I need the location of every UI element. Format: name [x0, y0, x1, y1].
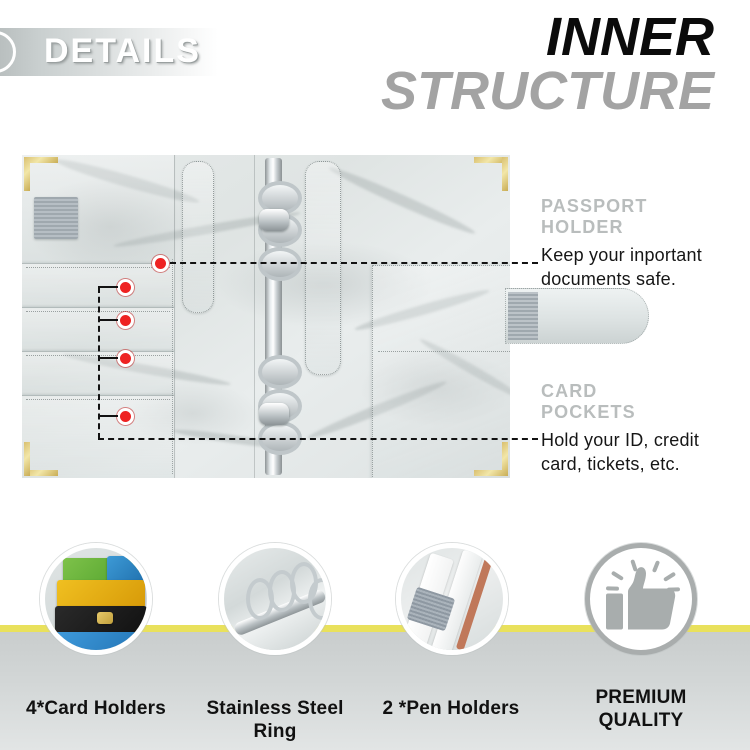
feature-label-pen-holders: 2 *Pen Holders	[366, 697, 536, 720]
gold-corner-icon	[24, 157, 58, 191]
callout-desc: Keep your inportant documents safe.	[541, 244, 741, 290]
callout-tick-1	[98, 286, 118, 288]
strap-elastic-band	[508, 292, 538, 340]
page-title: INNER STRUCTURE	[381, 12, 714, 118]
callout-line-card-pockets	[98, 438, 538, 440]
callout-desc-line2: card, tickets, etc.	[541, 454, 680, 474]
feature-image-pen-holders	[396, 543, 508, 655]
callout-title-line1: PASSPORT	[541, 196, 647, 216]
thumbs-up-icon	[598, 556, 684, 643]
feature-label-line2: QUALITY	[599, 710, 684, 731]
callout-desc-line1: Hold your ID, credit	[541, 430, 699, 450]
badge-circle-icon	[0, 31, 16, 73]
details-badge-label: DETAILS	[44, 32, 201, 71]
callout-dot-card-3	[117, 350, 134, 367]
gold-corner-icon	[474, 157, 508, 191]
callout-tick-2	[98, 319, 118, 321]
callout-desc: Hold your ID, credit card, tickets, etc.	[541, 429, 741, 475]
title-main: INNER	[381, 12, 714, 64]
callout-dot-passport	[152, 255, 169, 272]
feature-image-steel-ring	[219, 543, 331, 655]
callout-card-pockets: CARD POCKETS Hold your ID, credit card, …	[541, 381, 741, 476]
feature-label-line1: PREMIUM	[595, 687, 686, 708]
elastic-pen-loop	[34, 197, 78, 239]
callout-dot-card-1	[117, 279, 134, 296]
feature-icon-premium-quality	[585, 543, 697, 655]
feature-label-steel-ring: Stainless Steel Ring	[184, 697, 366, 743]
callout-dot-card-2	[117, 312, 134, 329]
callout-passport-holder: PASSPORT HOLDER Keep your inportant docu…	[541, 196, 741, 291]
callout-tick-3	[98, 357, 118, 359]
callout-desc-line1: Keep your inportant	[541, 245, 702, 265]
callout-title: PASSPORT HOLDER	[541, 196, 741, 238]
callout-title: CARD POCKETS	[541, 381, 741, 423]
callout-title-line1: CARD	[541, 381, 597, 401]
feature-label-card-holders: 4*Card Holders	[10, 697, 182, 720]
callout-dot-card-4	[117, 408, 134, 425]
feature-label-premium-quality: PREMIUM QUALITY	[570, 686, 712, 732]
callout-desc-line2: documents safe.	[541, 269, 676, 289]
gold-corner-icon	[24, 442, 58, 476]
feature-image-card-holders	[40, 543, 152, 655]
details-badge: DETAILS	[0, 28, 218, 76]
callout-title-line2: HOLDER	[541, 217, 624, 237]
title-sub: STRUCTURE	[381, 66, 714, 118]
infographic-page: DETAILS INNER STRUCTURE	[0, 0, 750, 750]
callout-tick-4	[98, 415, 118, 417]
gold-corner-icon	[474, 442, 508, 476]
callout-title-line2: POCKETS	[541, 402, 636, 422]
product-photo-open-planner	[22, 155, 510, 478]
callout-line-passport	[170, 262, 538, 264]
